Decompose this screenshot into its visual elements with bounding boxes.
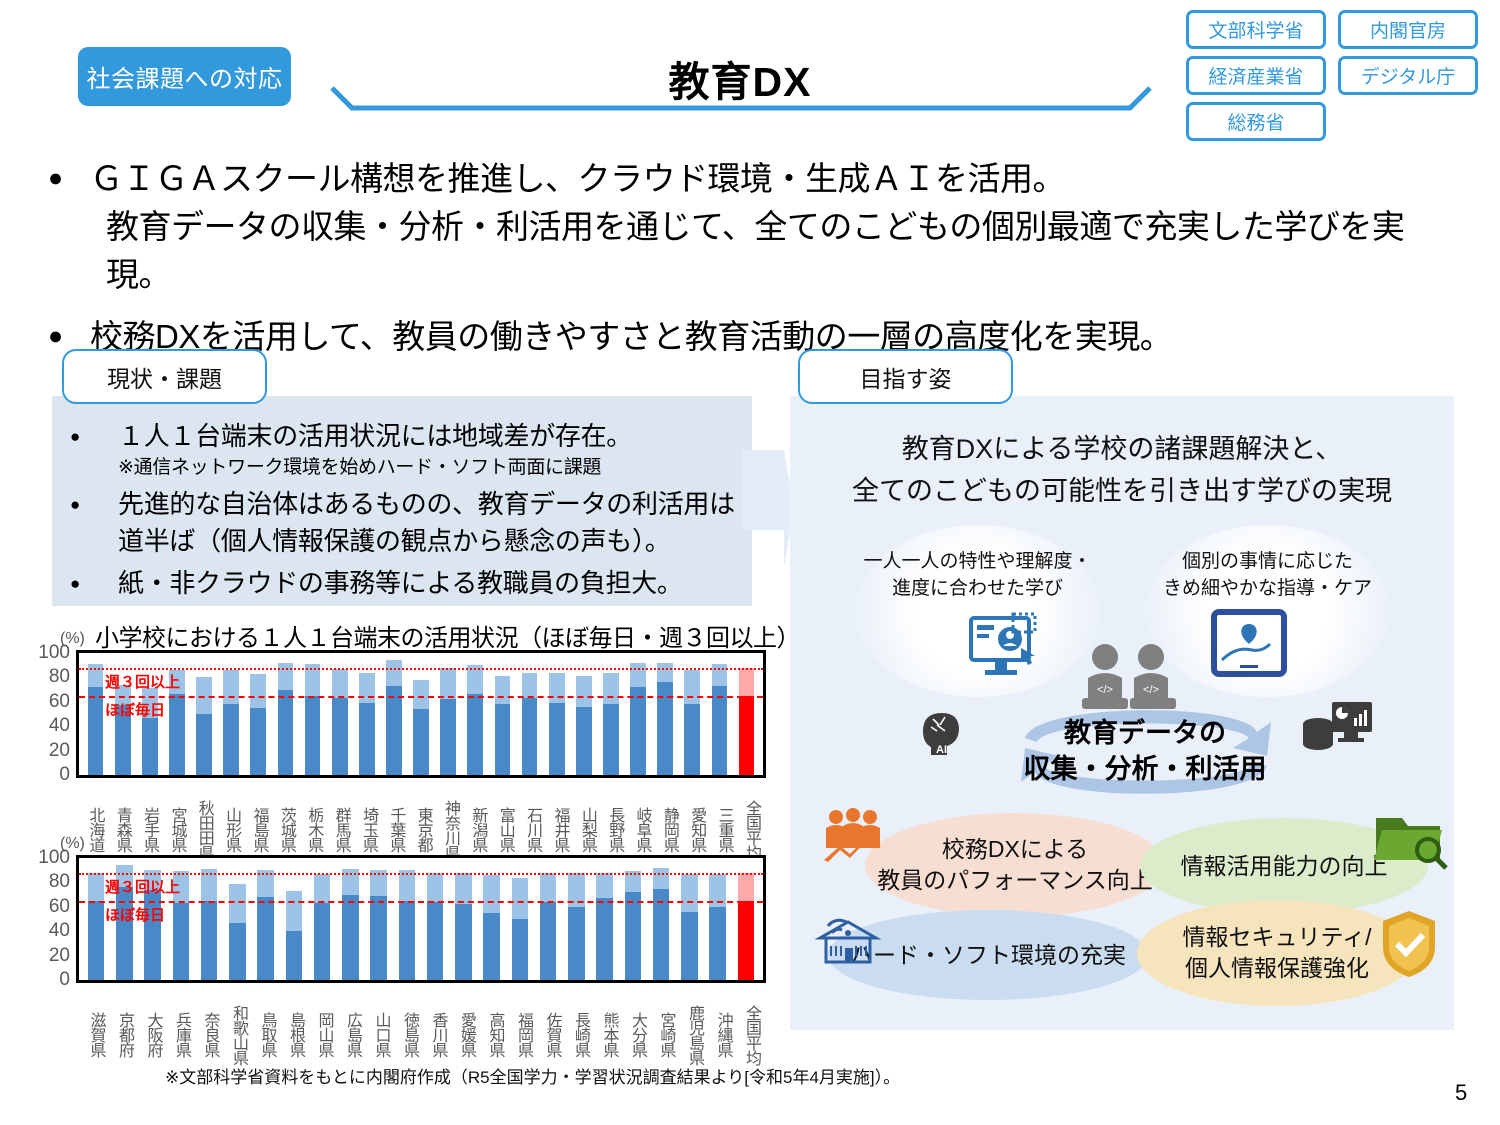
bar-segment-daily [88,687,104,775]
bubble-text-left: 一人一人の特性や理解度・ 進度に合わせた学び [855,548,1100,602]
y-tick-label: 0 [59,764,70,786]
bar-segment-daily [278,690,294,775]
bar-segment-daily [250,708,266,775]
bar-segment-daily [314,903,330,980]
oval-joho-line1: 情報活用能力の向上 [1181,851,1388,882]
bar-segment-week3 [286,891,302,931]
bar-segment-daily [427,902,443,980]
bar-segment-week3 [576,676,592,707]
bar-column [223,858,251,980]
bar-segment-daily [467,694,483,775]
bar-column [245,653,272,775]
bar-prefecture [201,869,217,980]
bar-segment-week3 [630,663,646,687]
bar-column [562,858,590,980]
bar-segment-daily [332,698,348,775]
bar-segment-daily [201,901,217,980]
bar-column [534,858,562,980]
plot-area-1: 週３回以上ほぼ毎日 [76,650,766,778]
bar-segment-week3 [413,680,429,709]
bar-column [462,653,489,775]
bar-prefecture [709,874,725,980]
bar-column [478,858,506,980]
bar-segment-daily [739,696,755,775]
bubble-text-right: 個別の事情に応じた きめ細やかな指導・ケア [1145,548,1390,602]
bar-prefecture [278,663,294,775]
issue-main: 紙・非クラウドの事務等による教職員の負担大。 [118,568,683,598]
bar-column [393,858,421,980]
bar-segment-week3 [314,874,330,903]
bar-column [408,653,435,775]
bar-column [353,653,380,775]
bar-segment-daily [173,903,189,980]
bar-segment-week3 [512,878,528,919]
bar-column [336,858,364,980]
reference-line-label: ほぼ毎日 [105,904,165,925]
bar-prefecture [196,677,212,775]
bar-segment-daily [596,898,612,980]
bar-segment-daily [196,714,212,775]
bar-prefecture [512,878,528,980]
y-tick-label: 40 [49,920,70,942]
bar-prefecture [88,664,104,775]
y-axis: 020406080100 [30,650,74,778]
bar-segment-daily [684,704,700,775]
x-tick-label: 滋賀県 [79,987,108,1082]
monitor-person-icon [963,612,1045,682]
bar-column [506,858,534,980]
ministry-tag: 文部科学省 [1186,10,1326,49]
bar-column [706,653,733,775]
svg-text:AI: AI [936,744,947,756]
main-bullet-item: ● ＧＩＧＡスクール構想を推進し、クラウド環境・生成ＡＩを活用。 教育データの収… [48,155,1468,299]
issue-item: ● １人１台端末の活用状況には地域差が存在。 ※通信ネットワーク環境を始めハード… [70,418,750,481]
ministry-tag: デジタル庁 [1338,56,1478,95]
bar-column [191,653,218,775]
bar-column [299,653,326,775]
bar-prefecture [603,673,619,775]
bullet-dot-icon: ● [70,418,118,455]
bar-column [597,653,624,775]
bar-prefecture [549,673,565,775]
bar-column [647,858,675,980]
section-badge: 社会課題への対応 [78,47,291,106]
bar-segment-week3 [483,875,499,913]
bar-prefecture [229,884,245,980]
bar-prefecture [681,874,697,980]
bar-prefecture [359,673,375,775]
database-dashboard-icon [1300,700,1374,764]
bar-national-average [739,668,755,775]
bar-segment-week3 [739,668,755,696]
data-hub-title: 教育データの 収集・分析・利活用 [1010,715,1280,787]
bar-prefecture [286,891,302,980]
bar-segment-daily [305,696,321,775]
ministry-row: 文部科学省 内閣官房 [1186,10,1486,49]
bar-prefecture [257,870,273,980]
bar-prefecture [455,873,471,980]
issue-item: ● 先進的な自治体はあるものの、教育データの利活用は 道半ば（個人情報保護の観点… [70,486,750,560]
bar-column [489,653,516,775]
bar-segment-daily [142,718,158,775]
main-bullet-text: ＧＩＧＡスクール構想を推進し、クラウド環境・生成ＡＩを活用。 教育データの収集・… [90,155,1468,299]
y-tick-label: 100 [38,642,70,664]
reference-line [79,901,763,903]
bar-prefecture [657,663,673,775]
ministry-row: 総務省 [1186,102,1486,141]
ai-brain-icon: AI [915,705,971,761]
bar-column [732,858,760,980]
bar-column [365,858,393,980]
issue-text: 紙・非クラウドの事務等による教職員の負担大。 [118,565,683,602]
school-wifi-icon [812,906,888,968]
issue-note: ※通信ネットワーク環境を始めハード・ソフト両面に課題 [118,455,632,481]
oval-sec-line1: 情報セキュリティ/ [1182,922,1371,953]
bar-segment-week3 [522,673,538,699]
bar-column [435,653,462,775]
bar-prefecture [540,873,556,980]
bar-segment-daily [413,709,429,775]
plot-area-2: 週３回以上ほぼ毎日 [76,855,766,983]
bar-column [625,653,652,775]
bar-column [679,653,706,775]
bar-group [79,653,763,775]
bar-prefecture [596,873,612,980]
bar-segment-daily [483,913,499,980]
y-tick-label: 20 [49,740,70,762]
bar-segment-daily [709,907,725,980]
bar-column [704,858,732,980]
bar-column [218,653,245,775]
y-tick-label: 100 [38,847,70,869]
bar-prefecture [370,870,386,980]
ministry-tag: 内閣官房 [1338,10,1478,49]
oval-hard-line1: ハード・ソフト環境の充実 [850,940,1126,971]
bubble-left-line1: 一人一人の特性や理解度・ [855,548,1100,575]
bar-segment-daily [738,901,754,980]
x-tick-label: 京都府 [108,987,137,1082]
bar-column [280,858,308,980]
bar-segment-week3 [653,868,669,889]
bar-national-average [738,873,754,980]
y-tick-label: 80 [49,666,70,688]
ministry-row: 経済産業省 デジタル庁 [1186,56,1486,95]
bar-segment-daily [549,703,565,775]
bar-segment-week3 [738,873,754,901]
bar-segment-daily [257,897,273,980]
bar-column [516,653,543,775]
bar-segment-week3 [440,668,456,700]
bar-prefecture [568,873,584,980]
page-number: 5 [1455,1080,1467,1106]
target-heading-line2: 全てのこどもの可能性を引き出す学びの実現 [790,470,1454,512]
bar-segment-daily [522,698,538,775]
bar-prefecture [250,674,266,775]
bar-prefecture [653,868,669,980]
main-bullet-line2: 教育データの収集・分析・利活用を通じて、全てのこどもの個別最適で充実した学びを実… [90,203,1468,299]
bar-prefecture [467,665,483,775]
bar-column [195,858,223,980]
ministry-tag: 経済産業省 [1186,56,1326,95]
chart-title: 小学校における１人１台端末の活用状況（ほぼ毎日・週３回以上） [95,618,800,653]
bullet-dot-icon: ● [70,565,118,602]
reference-line [79,696,763,698]
bar-segment-week3 [229,884,245,923]
issue-main-2: 道半ば（個人情報保護の観点から懸念の声も）。 [118,526,670,556]
bar-prefecture [223,670,239,775]
bar-segment-daily [603,704,619,775]
bar-prefecture [342,869,358,980]
bar-segment-daily [229,923,245,980]
bar-segment-week3 [540,873,556,902]
bar-segment-daily [681,912,697,980]
bar-segment-daily [440,699,456,775]
bar-segment-week3 [684,670,700,704]
bar-prefecture [440,668,456,775]
bar-segment-daily [386,686,402,775]
bar-prefecture [630,663,646,775]
bar-segment-daily [370,896,386,980]
bar-column [675,858,703,980]
issue-main: １人１台端末の活用状況には地域差が存在。 [118,421,632,451]
bar-prefecture [576,676,592,775]
bullet-dot-icon: ● [70,486,118,523]
bar-segment-daily [88,901,104,980]
bar-segment-week3 [596,873,612,899]
reference-line-label: 週３回以上 [105,876,180,897]
shield-check-icon [1378,908,1440,980]
bar-column [543,653,570,775]
bar-segment-daily [712,686,728,775]
bar-segment-daily [223,704,239,775]
bar-prefecture [88,873,104,980]
hub-line1: 教育データの [1010,715,1280,751]
bar-group [79,858,763,980]
bar-prefecture [305,664,321,775]
bar-segment-daily [540,902,556,980]
bar-prefecture [522,673,538,775]
target-state-heading: 教育DXによる学校の諸課題解決と、 全てのこどもの可能性を引き出す学びの実現 [790,428,1454,512]
bar-column [449,858,477,980]
bar-segment-daily [512,919,528,980]
bar-segment-daily [455,904,471,980]
bar-segment-daily [399,901,415,980]
bubble-right-line2: きめ細やかな指導・ケア [1145,575,1390,602]
oval-sec-line2: 個人情報保護強化 [1182,953,1371,984]
bar-segment-daily [342,895,358,980]
y-tick-label: 80 [49,871,70,893]
bar-segment-daily [169,694,185,775]
title-underline-decoration [330,86,1152,112]
hub-line2: 収集・分析・利活用 [1010,751,1280,787]
reference-line-label: 週３回以上 [105,671,180,692]
main-bullet-line1: ＧＩＧＡスクール構想を推進し、クラウド環境・生成ＡＩを活用。 [90,160,1065,197]
bar-segment-daily [630,687,646,775]
target-heading-line1: 教育DXによる学校の諸課題解決と、 [790,428,1454,470]
bar-segment-week3 [455,873,471,905]
bar-segment-daily [359,703,375,775]
bar-segment-week3 [399,870,415,901]
bar-segment-week3 [332,669,348,698]
bar-prefecture [314,874,330,980]
chart-footnote: ※文部科学省資料をもとに内閣府作成（R5全国学力・学習状況調査結果より[令和5年… [165,1063,900,1088]
oval-komu-dx: 校務DXによる 教員のパフォーマンス向上 [865,813,1165,917]
y-tick-label: 60 [49,896,70,918]
bar-prefecture [386,660,402,775]
reference-line-label: ほぼ毎日 [105,699,165,720]
bar-segment-week3 [386,660,402,686]
ministry-tag: 総務省 [1186,102,1326,141]
bar-segment-week3 [495,676,511,704]
issue-text: 先進的な自治体はあるものの、教育データの利活用は 道半ば（個人情報保護の観点から… [118,486,735,560]
people-growth-icon [820,808,896,866]
bar-segment-week3 [603,673,619,705]
tablet-heart-hand-icon [1206,608,1292,682]
bar-segment-week3 [250,674,266,708]
y-axis: 020406080100 [30,855,74,983]
ministry-tag-group: 文部科学省 内閣官房 経済産業省 デジタル庁 総務省 [1186,10,1486,148]
bar-column [570,653,597,775]
bar-segment-daily [495,704,511,775]
reference-line [79,668,763,670]
bar-segment-daily [625,892,641,980]
bar-column [652,653,679,775]
reference-line [79,873,763,875]
issue-item: ● 紙・非クラウドの事務等による教職員の負担大。 [70,565,750,602]
folder-search-icon [1372,808,1448,870]
bar-prefecture [427,873,443,980]
bar-column [591,858,619,980]
bar-column [252,858,280,980]
bar-segment-week3 [549,673,565,704]
bar-segment-daily [568,907,584,980]
bubble-right-line1: 個別の事情に応じた [1145,548,1390,575]
bar-segment-week3 [657,663,673,683]
bar-segment-week3 [223,670,239,704]
issue-main: 先進的な自治体はあるものの、教育データの利活用は [118,489,735,519]
bar-segment-week3 [427,873,443,902]
bar-column [421,858,449,980]
bar-prefecture [332,669,348,775]
bar-prefecture [495,676,511,775]
y-tick-label: 60 [49,691,70,713]
bar-segment-daily [286,931,302,980]
bar-prefecture [684,670,700,775]
oval-komu-line1: 校務DXによる [877,834,1153,865]
oval-komu-line2: 教員のパフォーマンス向上 [877,865,1153,896]
main-bullet-list: ● ＧＩＧＡスクール構想を推進し、クラウド環境・生成ＡＩを活用。 教育データの収… [48,155,1468,367]
bar-prefecture [399,870,415,980]
bar-segment-week3 [88,873,104,901]
bar-prefecture [625,871,641,980]
bubble-left-line2: 進度に合わせた学び [855,575,1100,602]
bar-column [308,858,336,980]
y-tick-label: 0 [59,969,70,991]
bar-column [326,653,353,775]
oval-security: 情報セキュリティ/ 個人情報保護強化 [1137,900,1417,1006]
bar-segment-daily [576,707,592,775]
panel-tab-target-state: 目指す姿 [798,349,1013,404]
bar-prefecture [712,664,728,775]
bar-prefecture [483,875,499,980]
y-tick-label: 20 [49,945,70,967]
bar-column [272,653,299,775]
panel-tab-current-issues: 現状・課題 [62,349,267,404]
bar-prefecture [413,680,429,775]
issue-text: １人１台端末の活用状況には地域差が存在。 ※通信ネットワーク環境を始めハード・ソ… [118,418,632,481]
bar-column [380,653,407,775]
y-tick-label: 40 [49,715,70,737]
bar-column [619,858,647,980]
bar-segment-week3 [681,874,697,912]
bullet-dot-icon: ● [48,155,90,201]
x-tick-label: 大阪府 [136,987,165,1082]
issue-list: ● １人１台端末の活用状況には地域差が存在。 ※通信ネットワーク環境を始めハード… [70,418,750,607]
bar-segment-week3 [359,673,375,704]
bar-column [733,653,760,775]
